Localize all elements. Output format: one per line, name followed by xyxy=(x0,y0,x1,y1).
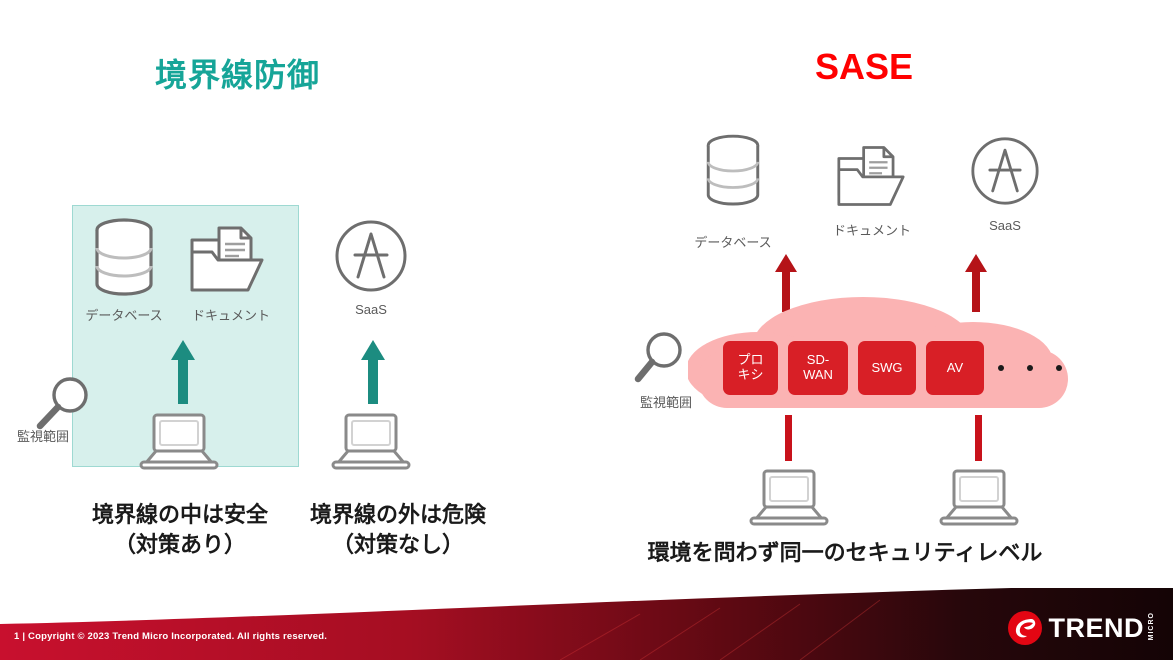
monitoring-scope-label-right: 監視範囲 xyxy=(620,392,712,411)
caption-outside-line1: 境界線の外は危険 xyxy=(278,500,518,530)
document-folder-icon xyxy=(186,222,268,296)
saas-icon xyxy=(970,136,1040,206)
database-label: データベース xyxy=(68,305,180,324)
saas-label: SaaS xyxy=(318,302,424,317)
document-label: ドキュメント xyxy=(816,220,928,239)
caption-outside-line2: （対策なし） xyxy=(278,530,518,560)
service-chip-av[interactable]: AV xyxy=(926,341,984,395)
database-icon xyxy=(700,132,766,210)
slide-canvas: 境界線防御 SASE データベース ドキュメント SaaS 監視範囲 xyxy=(0,0,1173,660)
ellipsis-dot xyxy=(1027,365,1033,371)
page-title-left: 境界線防御 xyxy=(155,50,320,96)
laptop-icon xyxy=(742,468,836,526)
laptop-icon xyxy=(932,468,1026,526)
caption-sase: 環境を問わず同一のセキュリティレベル xyxy=(605,538,1085,568)
trend-micro-mark-icon xyxy=(1007,610,1043,646)
caption-inside-line1: 境界線の中は安全 xyxy=(60,500,300,530)
document-folder-icon xyxy=(833,142,909,210)
uplink-arrow-inside xyxy=(168,338,198,406)
service-chip-swg[interactable]: SWG xyxy=(858,341,916,395)
monitoring-scope-label-left: 監視範囲 xyxy=(17,426,105,445)
cloud-to-device-line-right xyxy=(975,415,982,461)
logo-wordmark: TREND xyxy=(1049,613,1145,644)
cloud-to-device-line-left xyxy=(785,415,792,461)
laptop-icon xyxy=(132,412,226,470)
caption-inside-perimeter: 境界線の中は安全 （対策あり） xyxy=(60,500,300,559)
uplink-arrow-outside xyxy=(358,338,388,406)
footer-curve-shape xyxy=(0,588,1173,660)
database-label: データベース xyxy=(678,232,788,251)
page-title-right: SASE xyxy=(815,46,913,88)
ellipsis-dot xyxy=(998,365,1004,371)
more-services-ellipsis xyxy=(998,365,1062,371)
caption-outside-perimeter: 境界線の外は危険 （対策なし） xyxy=(278,500,518,559)
service-chip-sdwan[interactable]: SD- WAN xyxy=(788,341,848,395)
magnifier-icon xyxy=(630,328,692,390)
logo-subwordmark: MICRO xyxy=(1148,612,1155,640)
document-label: ドキュメント xyxy=(176,305,286,324)
caption-inside-line2: （対策あり） xyxy=(60,530,300,560)
database-icon xyxy=(88,216,160,300)
saas-icon xyxy=(334,219,408,293)
copyright-text: 1 | Copyright © 2023 Trend Micro Incorpo… xyxy=(14,631,327,642)
service-chip-proxy[interactable]: プロ キシ xyxy=(723,341,778,395)
laptop-icon xyxy=(324,412,418,470)
trend-micro-logo: TREND MICRO xyxy=(1007,610,1156,646)
saas-label: SaaS xyxy=(955,218,1055,233)
footer-band: 1 | Copyright © 2023 Trend Micro Incorpo… xyxy=(0,588,1173,660)
ellipsis-dot xyxy=(1056,365,1062,371)
